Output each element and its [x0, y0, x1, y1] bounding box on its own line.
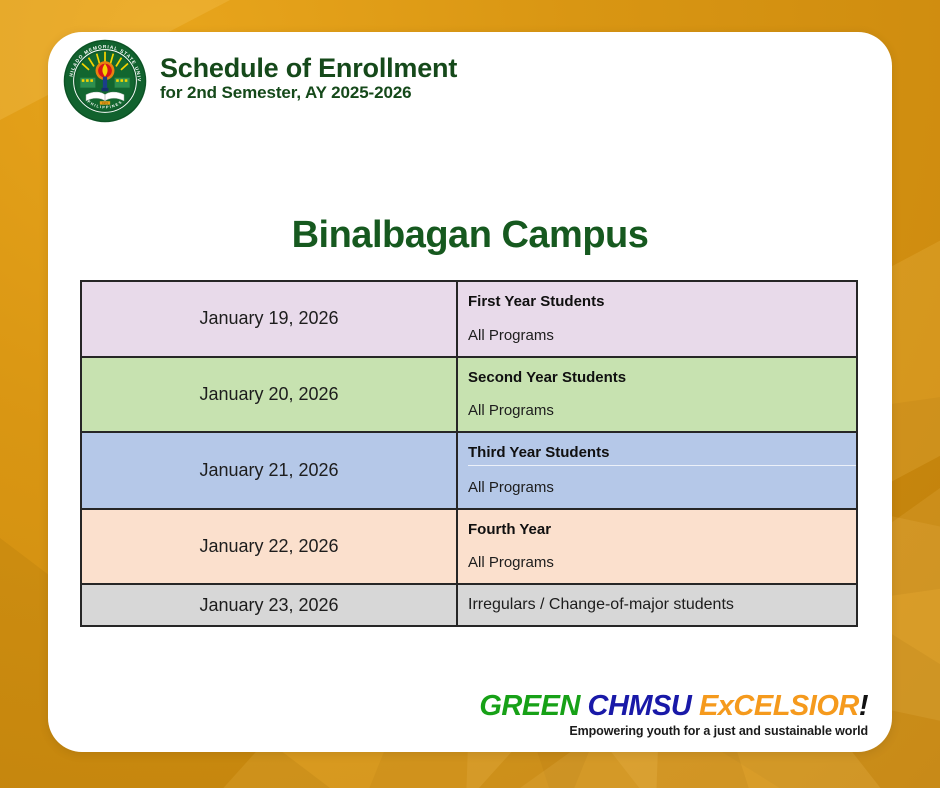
schedule-date-cell: January 19, 2026	[82, 282, 458, 356]
schedule-detail-sub: All Programs	[468, 325, 856, 347]
schedule-detail-single: Irregulars / Change-of-major students	[468, 594, 856, 616]
page-subtitle: for 2nd Semester, AY 2025-2026	[160, 83, 457, 103]
schedule-detail-title: Fourth Year	[468, 519, 856, 541]
page-title: Schedule of Enrollment	[160, 54, 457, 82]
schedule-date-cell: January 20, 2026	[82, 358, 458, 432]
schedule-detail-sub: All Programs	[468, 400, 856, 422]
header-text-block: Schedule of Enrollment for 2nd Semester,…	[160, 54, 457, 108]
schedule-detail-title: Second Year Students	[468, 367, 856, 389]
schedule-detail-cell: Irregulars / Change-of-major students	[458, 585, 856, 625]
slogan-word-excelsior: ExCELSIOR	[699, 690, 859, 722]
slogan-word-chmsu: CHMSU	[588, 690, 692, 722]
poster-canvas: 1974 CARLOS HILADO MEMORIAL STATE UNIVER…	[0, 0, 940, 788]
content-card: 1974 CARLOS HILADO MEMORIAL STATE UNIVER…	[48, 32, 892, 752]
slogan-word-green: GREEN	[479, 690, 580, 722]
schedule-detail-cell: Fourth Year All Programs	[458, 510, 856, 584]
schedule-detail-cell: First Year Students All Programs	[458, 282, 856, 356]
poster-header: 1974 CARLOS HILADO MEMORIAL STATE UNIVER…	[62, 38, 457, 124]
slogan-exclamation: !	[859, 690, 868, 722]
table-row: January 19, 2026 First Year Students All…	[82, 282, 856, 358]
schedule-detail-title: First Year Students	[468, 291, 856, 313]
table-row: January 23, 2026 Irregulars / Change-of-…	[82, 585, 856, 625]
campus-heading: Binalbagan Campus	[48, 214, 892, 257]
table-row: January 21, 2026 Third Year Students All…	[82, 433, 856, 510]
footer-branding: GREEN CHMSU ExCELSIOR! Empowering youth …	[479, 692, 868, 738]
schedule-detail-cell: Second Year Students All Programs	[458, 358, 856, 432]
schedule-date-cell: January 22, 2026	[82, 510, 458, 584]
schedule-detail-sub: All Programs	[468, 465, 856, 499]
schedule-detail-sub: All Programs	[468, 552, 856, 574]
university-seal-icon: 1974 CARLOS HILADO MEMORIAL STATE UNIVER…	[62, 38, 148, 124]
schedule-detail-cell: Third Year Students All Programs	[458, 433, 856, 508]
schedule-date-cell: January 21, 2026	[82, 433, 458, 508]
schedule-table: January 19, 2026 First Year Students All…	[80, 280, 858, 627]
table-row: January 20, 2026 Second Year Students Al…	[82, 358, 856, 434]
slogan-line: GREEN CHMSU ExCELSIOR!	[479, 692, 868, 721]
footer-tagline: Empowering youth for a just and sustaina…	[479, 724, 868, 738]
schedule-date-cell: January 23, 2026	[82, 585, 458, 625]
schedule-detail-title: Third Year Students	[468, 442, 856, 464]
svg-text:1974: 1974	[102, 101, 108, 105]
table-row: January 22, 2026 Fourth Year All Program…	[82, 510, 856, 586]
